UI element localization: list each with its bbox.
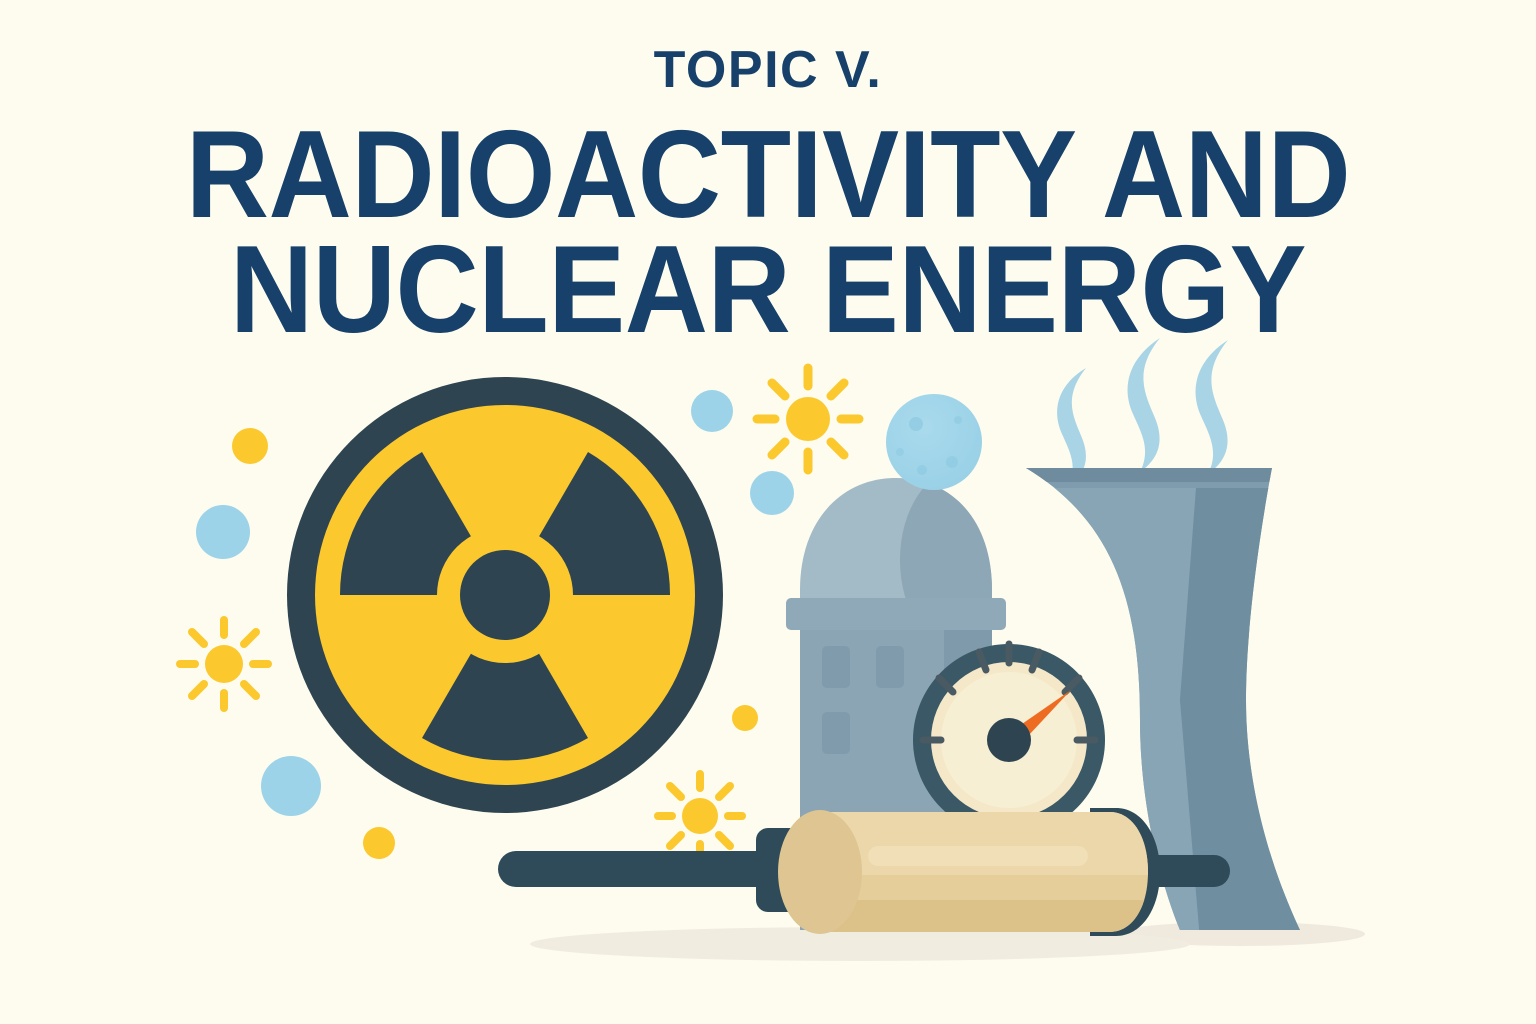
poster-canvas: TOPIC V. RADIOACTIVITY AND NUCLEAR ENERG… — [0, 0, 1536, 1024]
blue-particle — [691, 390, 733, 432]
blue-particle — [196, 505, 250, 559]
burst-sparkle — [180, 620, 268, 708]
blue-particle — [261, 756, 321, 816]
blue-particle — [750, 471, 794, 515]
title-line-2: NUCLEAR ENERGY — [54, 233, 1482, 348]
burst-sparkle — [658, 774, 742, 858]
trefoil-hub — [460, 550, 550, 640]
burst-sparkle — [757, 368, 859, 470]
reactor-window — [822, 646, 850, 688]
geiger-left-cap-face — [778, 810, 862, 934]
page-title: RADIOACTIVITY AND NUCLEAR ENERGY — [54, 96, 1482, 349]
radiation-gauge — [913, 644, 1105, 836]
yellow-dot — [232, 428, 268, 464]
geiger-probe-rod — [498, 851, 788, 887]
reactor-window — [876, 646, 904, 688]
gauge-hub — [987, 718, 1031, 762]
title-block: TOPIC V. RADIOACTIVITY AND NUCLEAR ENERG… — [0, 0, 1536, 349]
radiation-trefoil-icon — [287, 377, 723, 813]
geiger-highlight-stripe — [868, 846, 1088, 866]
tower-rim — [990, 462, 1330, 482]
reactor-cornice — [786, 598, 1006, 630]
reactor-window — [822, 712, 850, 754]
blue-planet — [886, 394, 982, 490]
topic-eyebrow: TOPIC V. — [0, 0, 1536, 96]
steam-wisp-3 — [1196, 340, 1228, 474]
yellow-dot — [363, 827, 395, 859]
steam-group — [1057, 338, 1228, 486]
yellow-dot — [732, 705, 758, 731]
geiger-counter — [498, 805, 1230, 945]
